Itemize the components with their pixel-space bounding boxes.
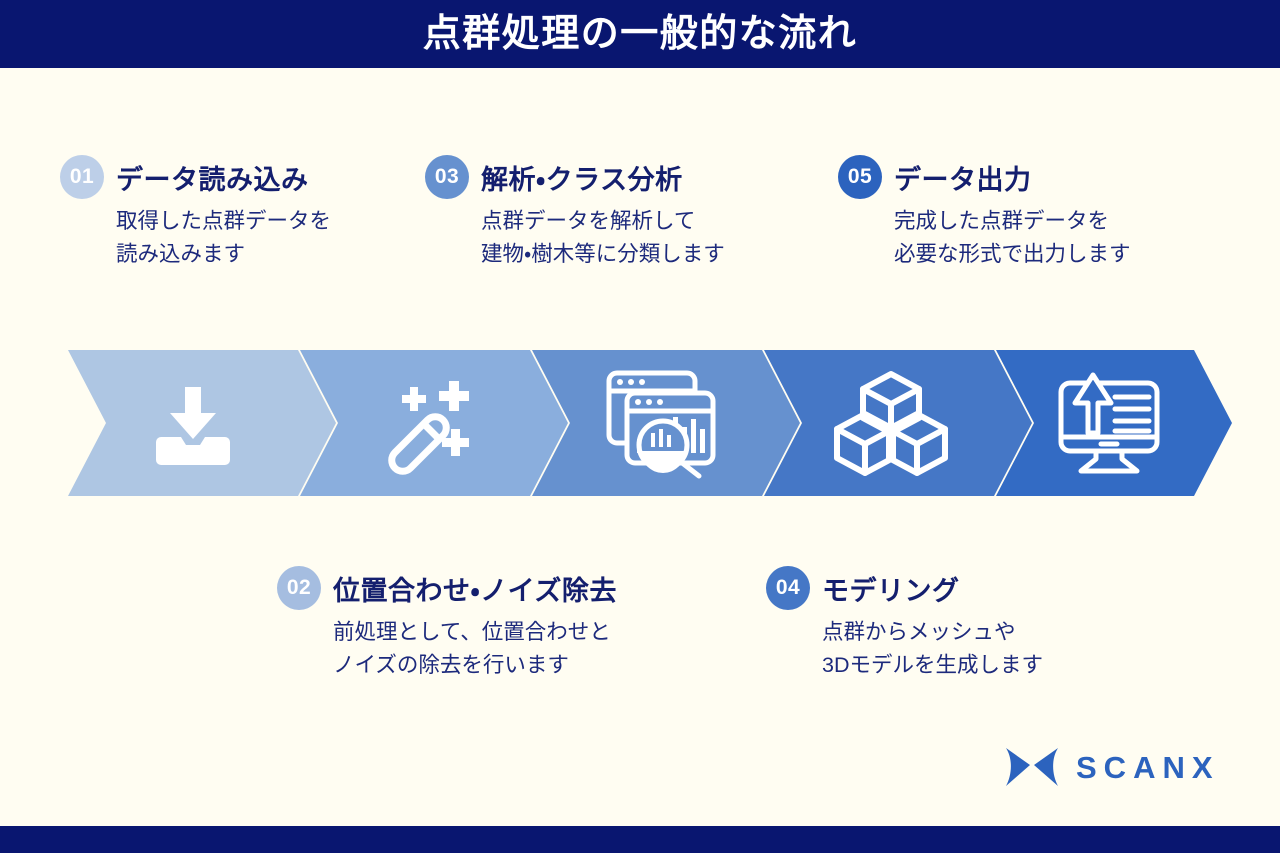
step-title-04: モデリング	[822, 569, 960, 608]
process-chevron-band	[68, 350, 1232, 496]
footer-bar	[0, 826, 1280, 853]
step-title-05: データ出力	[894, 158, 1032, 197]
step-block-04: 04 モデリング 点群からメッシュや 3Dモデルを生成します	[766, 566, 1043, 683]
chevron-step-05	[996, 350, 1232, 496]
chevron-step-04	[764, 350, 1032, 496]
three-cubes-icon	[764, 350, 1032, 496]
magic-wand-icon	[300, 350, 568, 496]
chart-window-magnifier-icon	[532, 350, 800, 496]
scanx-logo-text: SCANX	[1076, 752, 1220, 783]
step-description-05: 完成した点群データを 必要な形式で出力します	[894, 205, 1131, 272]
download-tray-icon	[68, 350, 336, 496]
scanx-logo: SCANX	[1004, 745, 1220, 789]
chevron-step-01	[68, 350, 336, 496]
step-description-02: 前処理として、位置合わせと ノイズの除去を行います	[333, 616, 617, 683]
step-description-01: 取得した点群データを 読み込みます	[116, 205, 331, 272]
step-heading-01: 01 データ読み込み	[60, 155, 331, 199]
scanx-butterfly-mark	[1004, 745, 1060, 789]
monitor-export-icon	[996, 350, 1232, 496]
chevron-step-02	[300, 350, 568, 496]
slide-canvas: 点群処理の一般的な流れ 01 データ読み込み 取得した点群データを 読み込みます…	[0, 0, 1280, 853]
step-block-03: 03 解析・クラス分析 点群データを解析して 建物・樹木等に分類します	[425, 155, 725, 272]
step-badge-05: 05	[838, 155, 882, 199]
step-badge-02: 02	[277, 566, 321, 610]
page-title: 点群処理の一般的な流れ	[423, 15, 858, 53]
step-heading-03: 03 解析・クラス分析	[425, 155, 725, 199]
step-badge-03: 03	[425, 155, 469, 199]
step-block-02: 02 位置合わせ・ノイズ除去 前処理として、位置合わせと ノイズの除去を行います	[277, 566, 617, 683]
step-title-03: 解析・クラス分析	[481, 158, 683, 197]
step-title-02: 位置合わせ・ノイズ除去	[333, 569, 617, 608]
step-description-04: 点群からメッシュや 3Dモデルを生成します	[822, 616, 1043, 683]
header-bar: 点群処理の一般的な流れ	[0, 0, 1280, 68]
step-block-01: 01 データ読み込み 取得した点群データを 読み込みます	[60, 155, 331, 272]
chevron-step-03	[532, 350, 800, 496]
step-title-01: データ読み込み	[116, 158, 309, 197]
step-heading-02: 02 位置合わせ・ノイズ除去	[277, 566, 617, 610]
step-description-03: 点群データを解析して 建物・樹木等に分類します	[481, 205, 725, 272]
step-heading-05: 05 データ出力	[838, 155, 1131, 199]
step-heading-04: 04 モデリング	[766, 566, 1043, 610]
step-block-05: 05 データ出力 完成した点群データを 必要な形式で出力します	[838, 155, 1131, 272]
step-badge-04: 04	[766, 566, 810, 610]
step-badge-01: 01	[60, 155, 104, 199]
